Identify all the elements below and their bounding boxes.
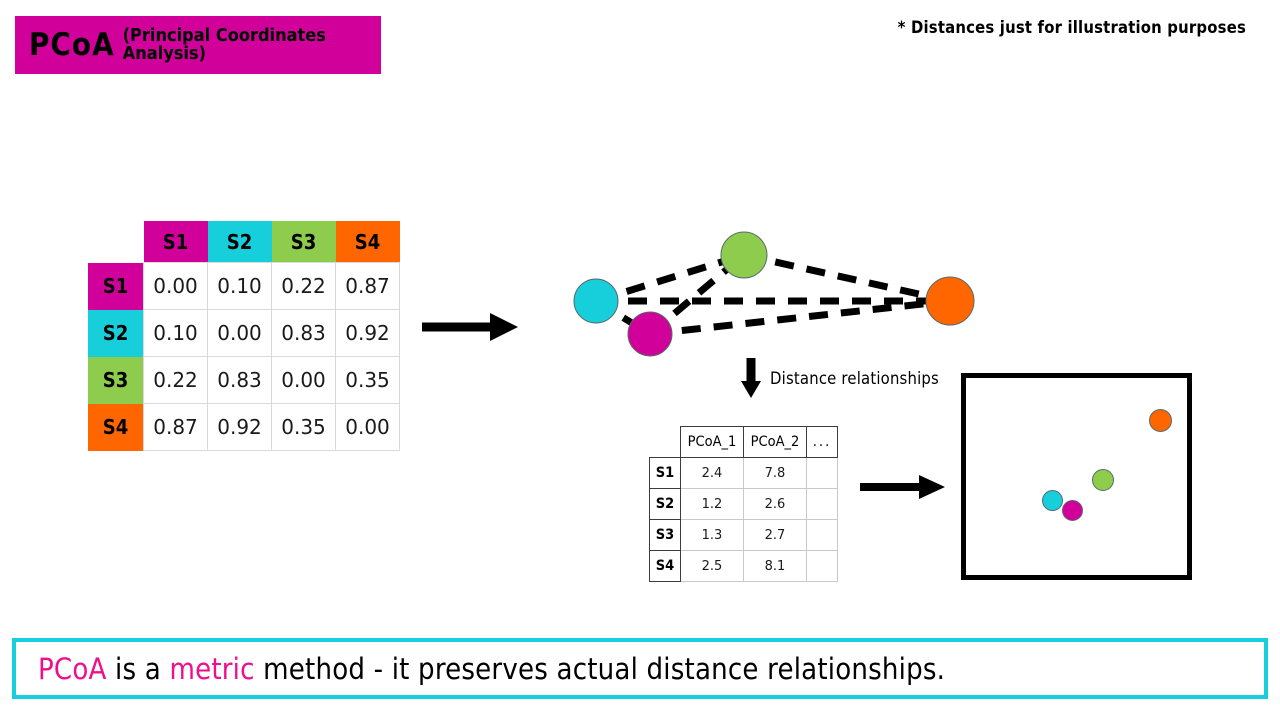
table-row: S4 2.5 8.1 bbox=[650, 551, 838, 582]
matrix-col-header-s3: S3 bbox=[272, 221, 336, 263]
matrix-cell: 0.92 bbox=[208, 404, 272, 451]
coords-cell: 2.5 bbox=[681, 551, 744, 582]
matrix-cell: 0.83 bbox=[272, 310, 336, 357]
distance-network-diagram bbox=[550, 220, 990, 380]
caption-term-metric: metric bbox=[169, 652, 254, 686]
matrix-corner-cell bbox=[88, 221, 144, 263]
table-row: S1 2.4 7.8 bbox=[650, 458, 838, 489]
table-row: S4 0.87 0.92 0.35 0.00 bbox=[88, 404, 400, 451]
matrix-cell: 0.87 bbox=[144, 404, 208, 451]
arrow-right-icon bbox=[418, 305, 522, 349]
table-header-row: S1 S2 S3 S4 bbox=[88, 221, 400, 263]
matrix-cell: 0.00 bbox=[144, 263, 208, 310]
page-subtitle: (Principal Coordinates Analysis) bbox=[123, 27, 381, 63]
table-row: S1 0.00 0.10 0.22 0.87 bbox=[88, 263, 400, 310]
network-node-s4 bbox=[926, 277, 974, 325]
coords-corner-cell bbox=[650, 427, 681, 458]
matrix-row-header-s4: S4 bbox=[88, 404, 144, 451]
scatter-point-s4 bbox=[1149, 409, 1172, 432]
table-row: S2 0.10 0.00 0.83 0.92 bbox=[88, 310, 400, 357]
network-edge-s1-s4 bbox=[650, 301, 950, 334]
distance-relationships-label: Distance relationships bbox=[770, 369, 939, 388]
matrix-cell: 0.22 bbox=[272, 263, 336, 310]
matrix-cell: 0.87 bbox=[336, 263, 400, 310]
matrix-cell: 0.10 bbox=[144, 310, 208, 357]
caption-segment-4: method - it preserves actual distance re… bbox=[255, 652, 945, 686]
table-row: S3 0.22 0.83 0.00 0.35 bbox=[88, 357, 400, 404]
coords-col-header-pcoa1: PCoA_1 bbox=[681, 427, 744, 458]
coords-cell: 2.7 bbox=[744, 520, 807, 551]
caption-segment-2: is a bbox=[107, 652, 170, 686]
coords-cell bbox=[807, 520, 838, 551]
table-row: S2 1.2 2.6 bbox=[650, 489, 838, 520]
matrix-cell: 0.92 bbox=[336, 310, 400, 357]
matrix-cell: 0.00 bbox=[272, 357, 336, 404]
scatter-point-s2 bbox=[1042, 490, 1063, 511]
matrix-cell: 0.35 bbox=[272, 404, 336, 451]
coords-cell bbox=[807, 551, 838, 582]
illustration-footnote: * Distances just for illustration purpos… bbox=[898, 18, 1246, 37]
coords-cell: 1.2 bbox=[681, 489, 744, 520]
matrix-col-header-s2: S2 bbox=[208, 221, 272, 263]
coords-col-header-pcoa2: PCoA_2 bbox=[744, 427, 807, 458]
pcoa-coordinates-table: PCoA_1 PCoA_2 ... S1 2.4 7.8 S2 1.2 2.6 … bbox=[649, 426, 838, 582]
coords-col-header-ellipsis: ... bbox=[807, 427, 838, 458]
matrix-cell: 0.00 bbox=[208, 310, 272, 357]
coords-cell: 1.3 bbox=[681, 520, 744, 551]
matrix-row-header-s2: S2 bbox=[88, 310, 144, 357]
coords-cell bbox=[807, 458, 838, 489]
matrix-cell: 0.22 bbox=[144, 357, 208, 404]
network-node-s1 bbox=[628, 312, 672, 356]
matrix-row-header-s1: S1 bbox=[88, 263, 144, 310]
coords-row-header-s4: S4 bbox=[650, 551, 681, 582]
coords-cell: 2.4 bbox=[681, 458, 744, 489]
coords-cell: 7.8 bbox=[744, 458, 807, 489]
coords-cell: 2.6 bbox=[744, 489, 807, 520]
arrow-right-icon bbox=[857, 468, 949, 506]
coords-row-header-s1: S1 bbox=[650, 458, 681, 489]
scatter-point-s1 bbox=[1062, 500, 1083, 521]
summary-caption-bar: PCoA is a metric method - it preserves a… bbox=[12, 638, 1268, 699]
matrix-cell: 0.83 bbox=[208, 357, 272, 404]
distance-matrix-table: S1 S2 S3 S4 S1 0.00 0.10 0.22 0.87 S2 0.… bbox=[88, 221, 400, 451]
arrow-down-icon bbox=[738, 356, 768, 400]
matrix-cell: 0.35 bbox=[336, 357, 400, 404]
matrix-col-header-s1: S1 bbox=[144, 221, 208, 263]
pcoa-ordination-plot bbox=[961, 373, 1192, 580]
matrix-row-header-s3: S3 bbox=[88, 357, 144, 404]
network-node-s3 bbox=[721, 232, 767, 278]
matrix-col-header-s4: S4 bbox=[336, 221, 400, 263]
matrix-cell: 0.10 bbox=[208, 263, 272, 310]
coords-row-header-s2: S2 bbox=[650, 489, 681, 520]
page-title-banner: PCoA (Principal Coordinates Analysis) bbox=[15, 16, 381, 74]
summary-caption-text: PCoA is a metric method - it preserves a… bbox=[38, 652, 945, 686]
coords-row-header-s3: S3 bbox=[650, 520, 681, 551]
page-title: PCoA bbox=[29, 30, 115, 61]
coords-cell bbox=[807, 489, 838, 520]
scatter-point-s3 bbox=[1092, 469, 1114, 491]
coords-cell: 8.1 bbox=[744, 551, 807, 582]
caption-term-pcoa: PCoA bbox=[38, 652, 107, 686]
table-header-row: PCoA_1 PCoA_2 ... bbox=[650, 427, 838, 458]
matrix-cell: 0.00 bbox=[336, 404, 400, 451]
network-edge-s3-s4 bbox=[744, 255, 950, 301]
network-node-s2 bbox=[574, 279, 618, 323]
table-row: S3 1.3 2.7 bbox=[650, 520, 838, 551]
